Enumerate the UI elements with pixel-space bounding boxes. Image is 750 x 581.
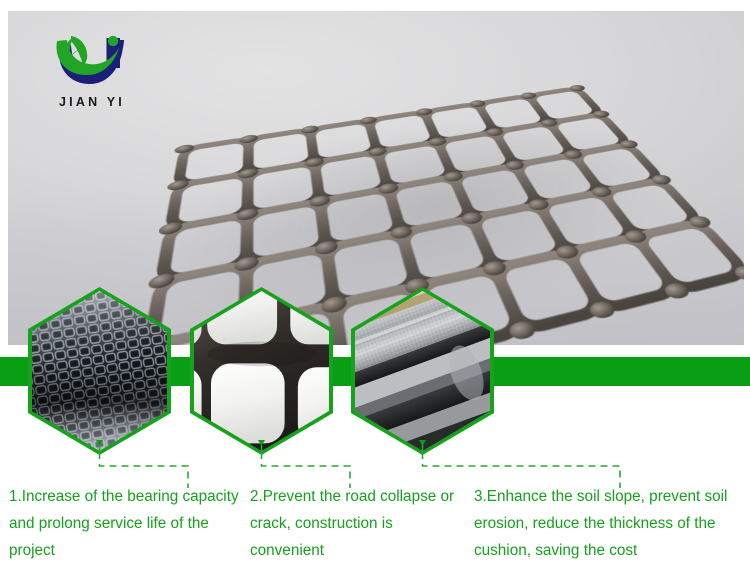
biaxial-geogrid-mesh-icon [158,23,738,323]
product-feature-banner: JIAN YI [0,0,750,581]
geogrid-junction-closeup-photo-icon [194,291,329,451]
brand-name: JIAN YI [38,95,146,109]
geogrid-roll-texture-photo-icon [32,291,167,451]
hero-product-photo: JIAN YI [8,11,744,345]
brand-logo: JIAN YI [38,31,148,123]
production-machine-roller-photo-icon [355,291,490,451]
feature-caption-1: 1.Increase of the bearing capacity and p… [9,483,244,564]
jianyi-leaf-swoosh-logo-icon [42,31,142,93]
feature-caption-3: 3.Enhance the soil slope, prevent soil e… [474,483,746,564]
feature-captions: 1.Increase of the bearing capacity and p… [0,483,750,581]
feature-caption-2: 2.Prevent the road collapse or crack, co… [250,483,468,564]
